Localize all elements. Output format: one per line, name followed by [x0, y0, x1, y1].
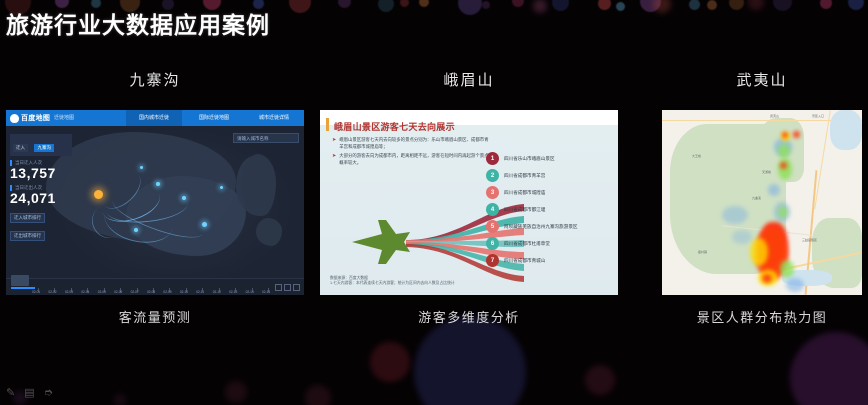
bullet-arrow-icon: ➤	[332, 137, 336, 150]
heatmap-canvas[interactable]: 武夷山 景区入口 九曲溪 天游峰 大王峰 三姑度假区 星村镇	[662, 110, 862, 295]
column-emeishan: 峨眉山 峨眉山景区游客七天去向展示 ➤ 峨眉山景区游客七天内去向较多的景点分别为…	[320, 70, 618, 326]
screenshot-crowd-heatmap[interactable]: 武夷山 景区入口 九曲溪 天游峰 大王峰 三姑度假区 星村镇	[662, 110, 862, 295]
destination-row[interactable]: 1四川省乐山市峨眉山景区	[486, 150, 614, 167]
rank-out-button[interactable]: 迁出城市排行	[10, 231, 45, 241]
column-header: 武夷山	[662, 70, 862, 92]
timeline-tick-label: 02-05	[98, 290, 106, 294]
column-wuyishan: 武夷山	[662, 70, 862, 326]
destination-label: 四川省成都市城隍庙	[504, 190, 545, 196]
timeline-tick-label: 02-02	[48, 290, 56, 294]
timeline-tick-label: 02-04	[81, 290, 89, 294]
map-label: 武夷山	[770, 114, 779, 118]
rank-badge: 5	[486, 220, 499, 233]
destination-row[interactable]: 2四川省成都市青羊宫	[486, 167, 614, 184]
destination-label: 四川省成都市青羊宫	[504, 173, 545, 179]
chart-footnote: 数据来源：百度大数据 1.七天内游客：本代表连续七天内游客；统计为区间内去向人数…	[330, 276, 455, 287]
destination-row[interactable]: 4四川省成都市都江堰	[486, 201, 614, 218]
destination-row[interactable]: 5阿坝藏族羌族自治州九寨沟旅游景区	[486, 218, 614, 235]
column-header: 九寨沟	[6, 70, 304, 92]
chart-bullets: ➤ 峨眉山景区游客七天内去向较多的景点分别为：乐山市峨眉山景区、成都市青羊宫和成…	[332, 137, 492, 169]
speed-slow-icon[interactable]	[275, 284, 282, 291]
map-node-origin[interactable]	[94, 190, 103, 199]
destination-row[interactable]: 6四川省成都市杜甫草堂	[486, 235, 614, 252]
tab-city-detail[interactable]: 城市迁徙详情	[246, 110, 302, 126]
timeline-tick-label: 02-12	[213, 290, 221, 294]
destination-row[interactable]: 3四川省成都市城隍庙	[486, 184, 614, 201]
pen-icon[interactable]: ✎	[6, 388, 15, 399]
timeline-tick-label: 02-09	[163, 290, 171, 294]
timeline-bar[interactable]: 02-0102-0202-0302-0402-0502-0602-0702-08…	[6, 278, 304, 295]
nav-item-migration[interactable]: 迁徙地图	[50, 113, 78, 124]
metric2-value: 24,071	[10, 191, 72, 206]
map-label: 景区入口	[812, 114, 824, 118]
play-button[interactable]	[11, 275, 29, 286]
footnote-line2: 1.七天内游客：本代表连续七天内游客；统计为区间内去向人数及占比统计	[330, 281, 455, 287]
slide-canvas: 旅游行业大数据应用案例 九寨沟	[0, 0, 868, 405]
timeline-progress[interactable]	[11, 287, 35, 289]
arrow-icon[interactable]: ➮	[44, 388, 53, 399]
timeline-tick-label: 02-06	[114, 290, 122, 294]
tab-international-migration[interactable]: 国际迁徙地图	[186, 110, 242, 126]
grid-icon[interactable]: ▤	[24, 388, 34, 399]
column-caption: 游客多维度分析	[320, 307, 618, 326]
rank-badge: 6	[486, 237, 499, 250]
map-label: 天游峰	[762, 170, 771, 174]
tab-domestic-migration[interactable]: 国内城市迁徙	[126, 110, 182, 126]
metric1-value: 13,757	[10, 166, 72, 181]
baidu-brand-label: 百度地图	[21, 113, 50, 123]
baidu-paw-icon	[10, 114, 19, 123]
destination-label: 四川省成都市都江堰	[504, 207, 545, 213]
timeline-tick-label: 02-11	[196, 290, 204, 294]
screenshot-visitor-flow[interactable]: 峨眉山景区游客七天去向展示 ➤ 峨眉山景区游客七天内去向较多的景点分别为：乐山市…	[320, 110, 618, 295]
destination-label: 四川省乐山市峨眉山景区	[504, 156, 555, 162]
chip-city[interactable]: 九寨沟	[34, 144, 54, 152]
chip-direction[interactable]: 迁入	[13, 144, 28, 152]
map-label: 三姑度假区	[802, 238, 817, 242]
timeline-tick-label: 02-01	[32, 290, 40, 294]
destination-list[interactable]: 1四川省乐山市峨眉山景区2四川省成都市青羊宫3四川省成都市城隍庙4四川省成都市都…	[486, 150, 614, 269]
speed-fast-icon[interactable]	[293, 284, 300, 291]
mini-toolbar[interactable]: ✎▤➮	[6, 388, 53, 399]
timeline-controls[interactable]	[275, 284, 300, 291]
filter-chip-row[interactable]: 迁入 九寨沟	[10, 134, 72, 156]
destination-label: 阿坝藏族羌族自治州九寨沟旅游景区	[504, 224, 578, 230]
metrics-panel: 迁入 九寨沟 当日迁入人次 13,757 当日迁出人次 24,071 迁入城市排…	[10, 134, 72, 242]
search-input[interactable]: 请输入城市名称	[233, 133, 299, 143]
timeline-tick-label: 02-03	[65, 290, 73, 294]
rank-in-button[interactable]: 迁入城市排行	[10, 213, 45, 223]
map-label: 大王峰	[692, 154, 701, 158]
rank-badge: 1	[486, 152, 499, 165]
rank-badge: 2	[486, 169, 499, 182]
screenshot-baidu-migration[interactable]: 百度地图 迁徙地图 国内城市迁徙 国际迁徙地图 城市迁徙详情 请输入城市名称 迁…	[6, 110, 304, 295]
column-jiuzhaigou: 九寨沟	[6, 70, 304, 326]
title-accent-bar	[326, 118, 329, 131]
column-header: 峨眉山	[320, 70, 618, 92]
page-title: 旅游行业大数据应用案例	[6, 6, 270, 40]
destination-row[interactable]: 7四川省成都市青城山	[486, 252, 614, 269]
map-label: 星村镇	[698, 250, 707, 254]
rank-badge: 4	[486, 203, 499, 216]
timeline-tick-label: 02-15	[262, 290, 270, 294]
speed-normal-icon[interactable]	[284, 284, 291, 291]
timeline-tick-label: 02-13	[229, 290, 237, 294]
timeline-tick-label: 02-14	[246, 290, 254, 294]
bullet-text: 峨眉山景区游客七天内去向较多的景点分别为：乐山市峨眉山景区、成都市青羊宫和成都市…	[339, 137, 492, 150]
destination-label: 四川省成都市杜甫草堂	[504, 241, 550, 247]
bullet-arrow-icon: ➤	[332, 153, 336, 166]
destination-label: 四川省成都市青城山	[504, 258, 545, 264]
baidu-logo[interactable]: 百度地图	[10, 113, 50, 123]
column-caption: 客流量预测	[6, 307, 304, 326]
timeline-tick-label: 02-08	[147, 290, 155, 294]
rank-badge: 7	[486, 254, 499, 267]
chart-title: 峨眉山景区游客七天去向展示	[334, 120, 455, 133]
timeline-tick-label: 02-10	[180, 290, 188, 294]
column-caption: 景区人群分布热力图	[662, 307, 862, 326]
bullet-text: 大部分的游客去向为成都市内，距离相距不远，游客在短时间内再起游个景点概率较大。	[339, 153, 492, 166]
map-label: 九曲溪	[752, 196, 761, 200]
timeline-tick-label: 02-07	[131, 290, 139, 294]
rank-badge: 3	[486, 186, 499, 199]
